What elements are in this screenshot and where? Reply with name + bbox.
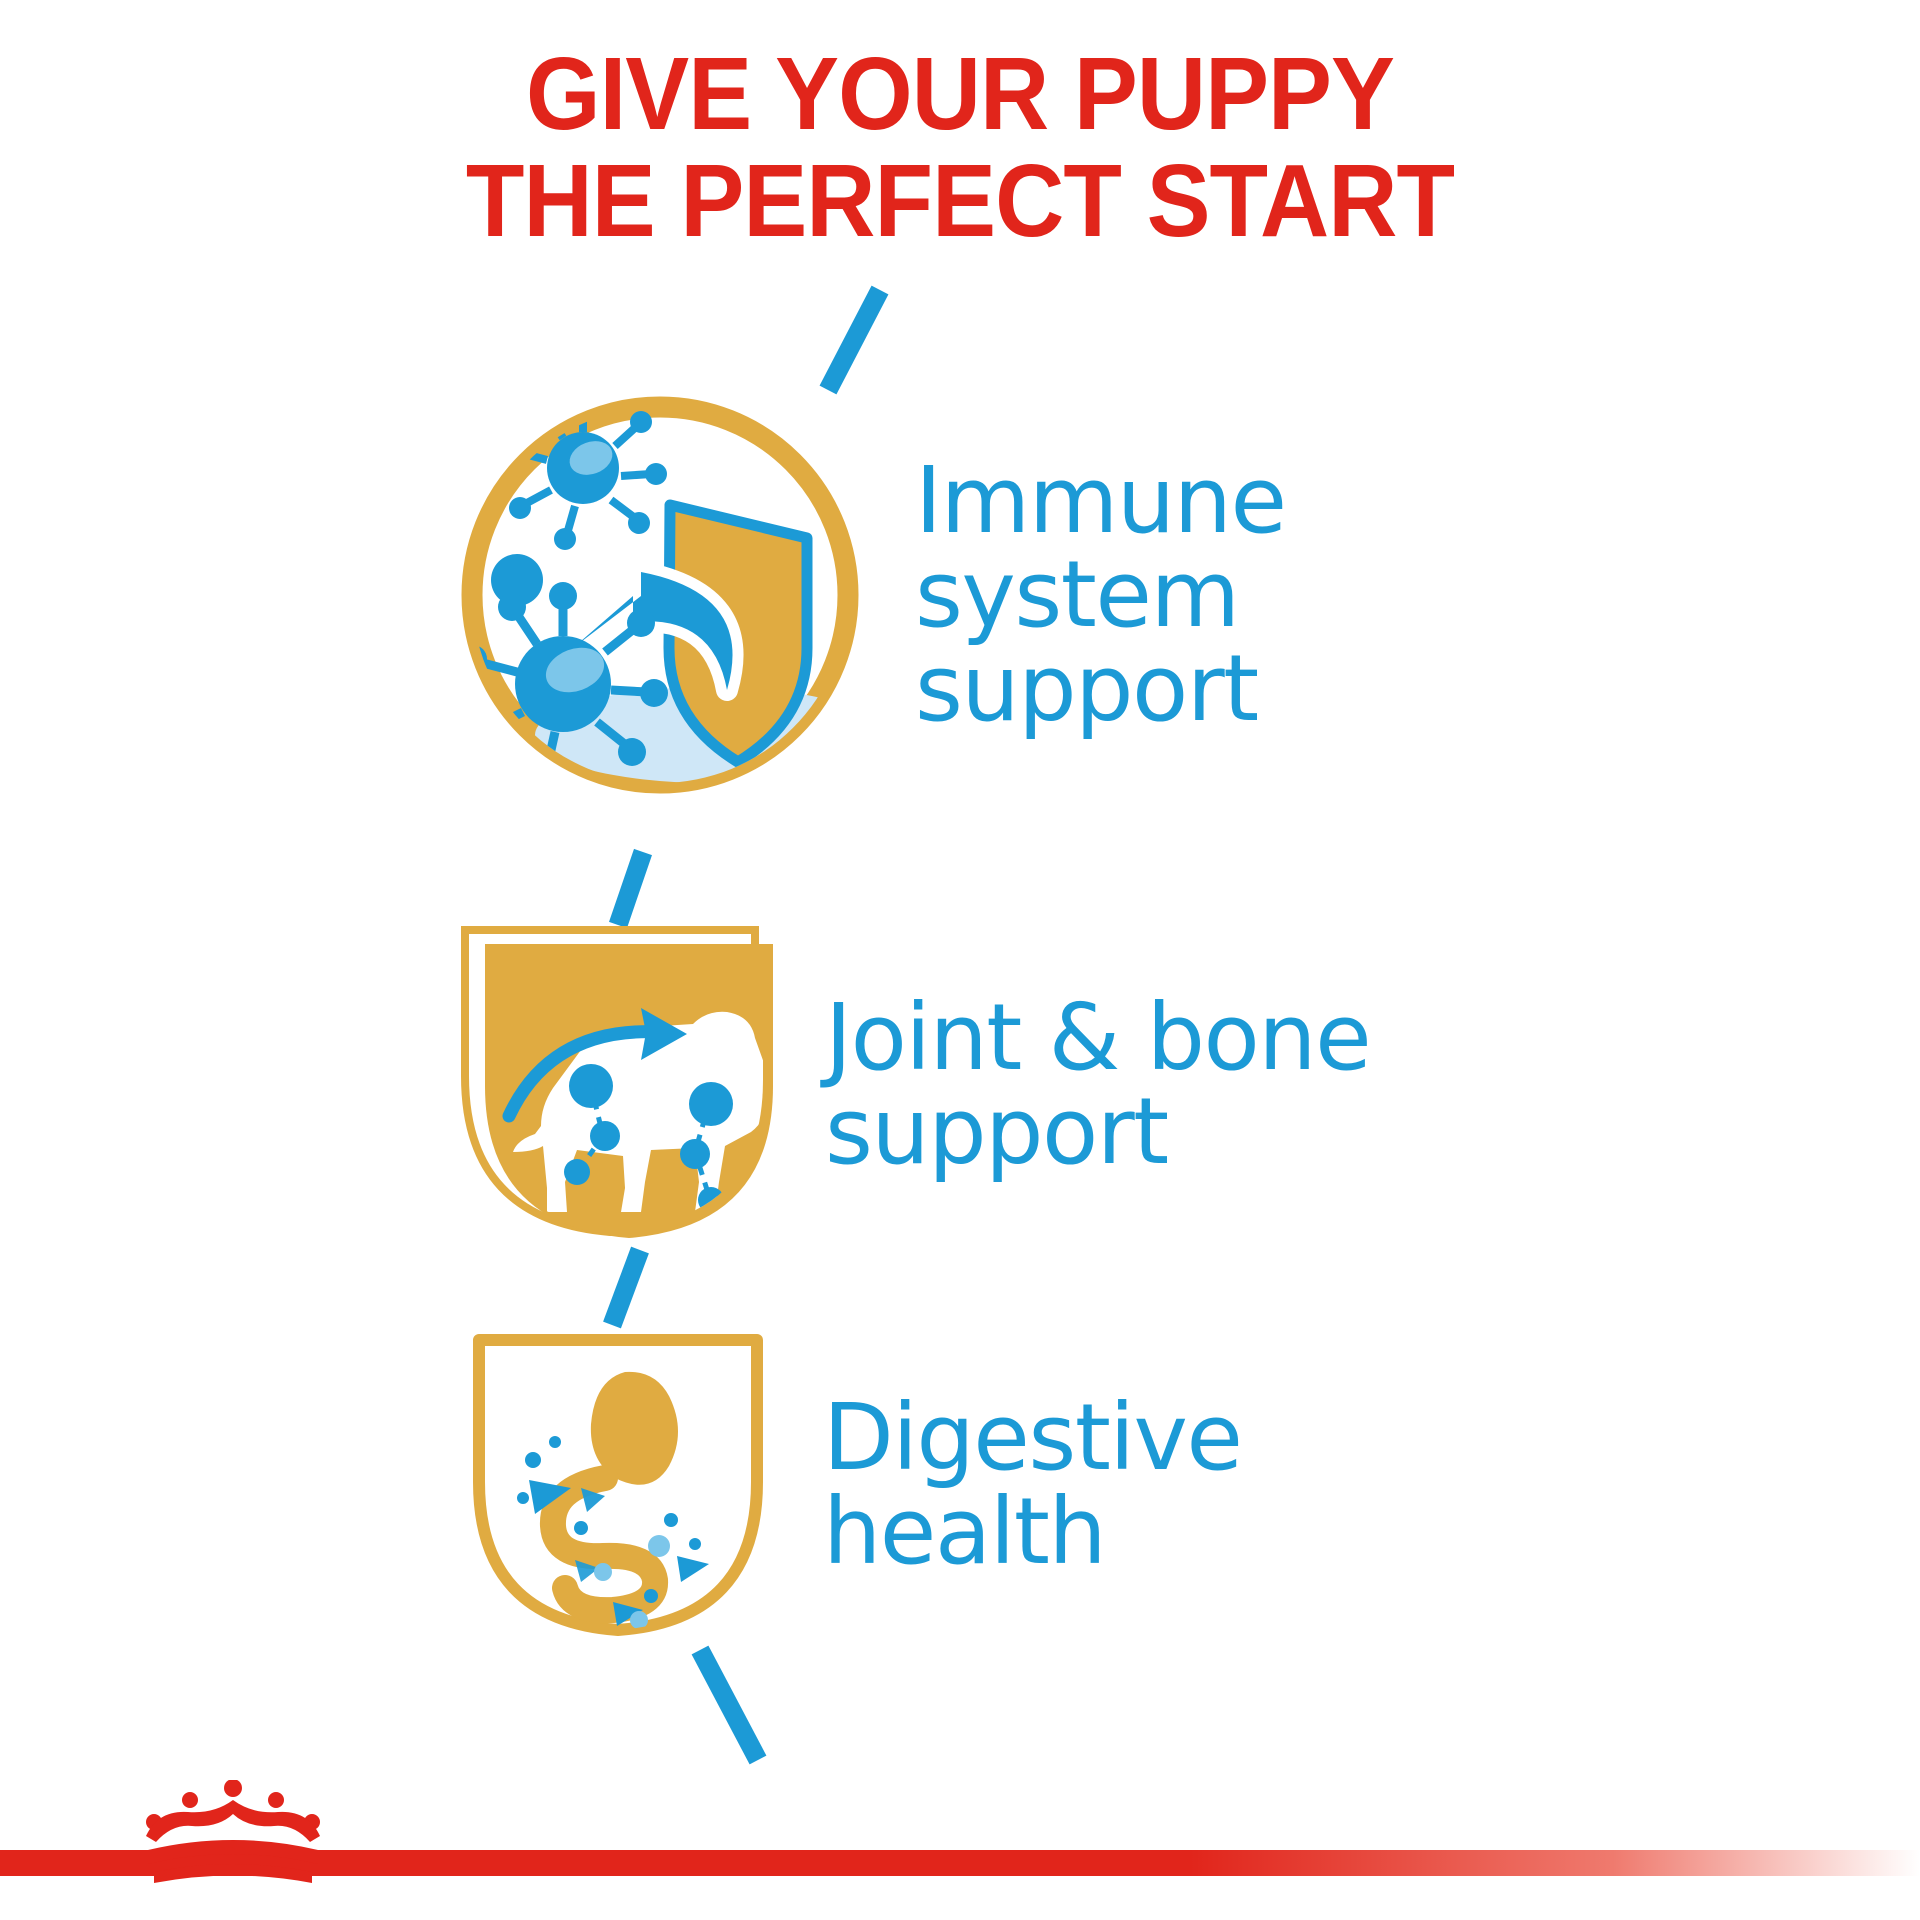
benefit-list: Immune system support [0, 0, 1920, 1920]
immune-system-icon [455, 390, 865, 800]
digestive-health-icon [455, 1320, 785, 1650]
benefit-row-digestive[interactable]: Digestive health [455, 1320, 1242, 1650]
benefit-row-immune[interactable]: Immune system support [455, 390, 1286, 800]
royal-canin-crown-logo [128, 1780, 338, 1892]
benefit-label-digestive: Digestive health [823, 1391, 1242, 1579]
joint-and-bone-icon [455, 920, 785, 1250]
footer [0, 1770, 1920, 1920]
poster-canvas: GIVE YOUR PUPPY THE PERFECT START [0, 0, 1920, 1920]
benefit-row-joint-bone[interactable]: Joint & bone support [455, 920, 1370, 1250]
benefit-label-immune: Immune system support [915, 454, 1286, 735]
benefit-label-joint-bone: Joint & bone support [825, 991, 1370, 1179]
